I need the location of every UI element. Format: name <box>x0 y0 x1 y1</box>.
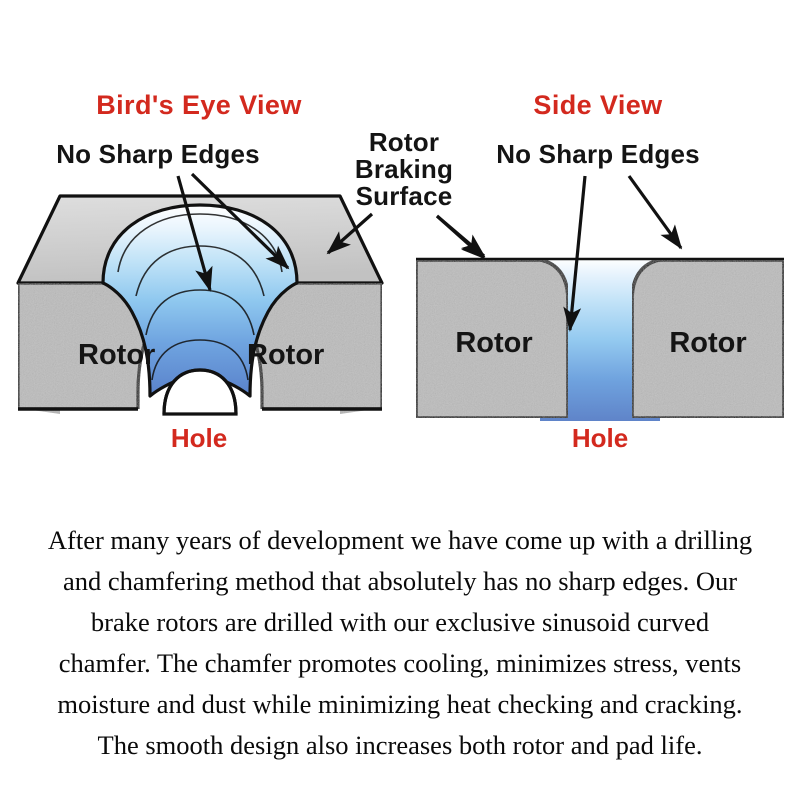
paragraph-line-2: and chamfering method that absolutely ha… <box>12 561 788 602</box>
left-no-sharp-edges-label: No Sharp Edges <box>56 139 260 169</box>
paragraph-line-6: The smooth design also increases both ro… <box>12 725 788 766</box>
side-view-braking-surface-arrow <box>437 216 484 256</box>
arrow-no-sharp-edges-right-b <box>629 176 681 248</box>
right-diagram-title: Side View <box>533 90 663 120</box>
left-diagram-group: Bird's Eye View No Sharp Edges Rotor Bra… <box>18 90 484 453</box>
right-no-sharp-edges-label: No Sharp Edges <box>496 139 700 169</box>
paragraph-line-4: chamfer. The chamfer promotes cooling, m… <box>12 643 788 684</box>
right-diagram-group: Side View No Sharp Edges Rotor Rotor Hol… <box>416 90 784 453</box>
right-diagram-rotor-label-right: Rotor <box>669 327 746 359</box>
right-diagram-hole-label: Hole <box>572 423 628 453</box>
right-diagram-rotor-label-left: Rotor <box>455 327 532 359</box>
rotor-braking-surface-label: Rotor Braking Surface <box>355 127 453 211</box>
paragraph-line-1: After many years of development we have … <box>12 520 788 561</box>
rotor-braking-surface-line-2: Braking <box>355 154 453 184</box>
left-diagram-rotor-label-right: Rotor <box>247 339 324 371</box>
diagram-figure-area: Bird's Eye View No Sharp Edges Rotor Bra… <box>0 0 800 500</box>
left-diagram-hole-label: Hole <box>171 423 227 453</box>
arrow-braking-surface-side <box>437 216 484 256</box>
left-diagram-title: Bird's Eye View <box>96 90 302 120</box>
left-diagram-rotor-label-left: Rotor <box>78 339 155 371</box>
rotor-braking-surface-line-3: Surface <box>356 181 453 211</box>
paragraph-line-3: brake rotors are drilled with our exclus… <box>12 602 788 643</box>
paragraph-line-5: moisture and dust while minimizing heat … <box>12 684 788 725</box>
rotor-braking-surface-line-1: Rotor <box>369 127 439 157</box>
rotor-chamfer-illustration: Bird's Eye View No Sharp Edges Rotor Bra… <box>0 0 800 500</box>
description-paragraph: After many years of development we have … <box>0 520 800 766</box>
